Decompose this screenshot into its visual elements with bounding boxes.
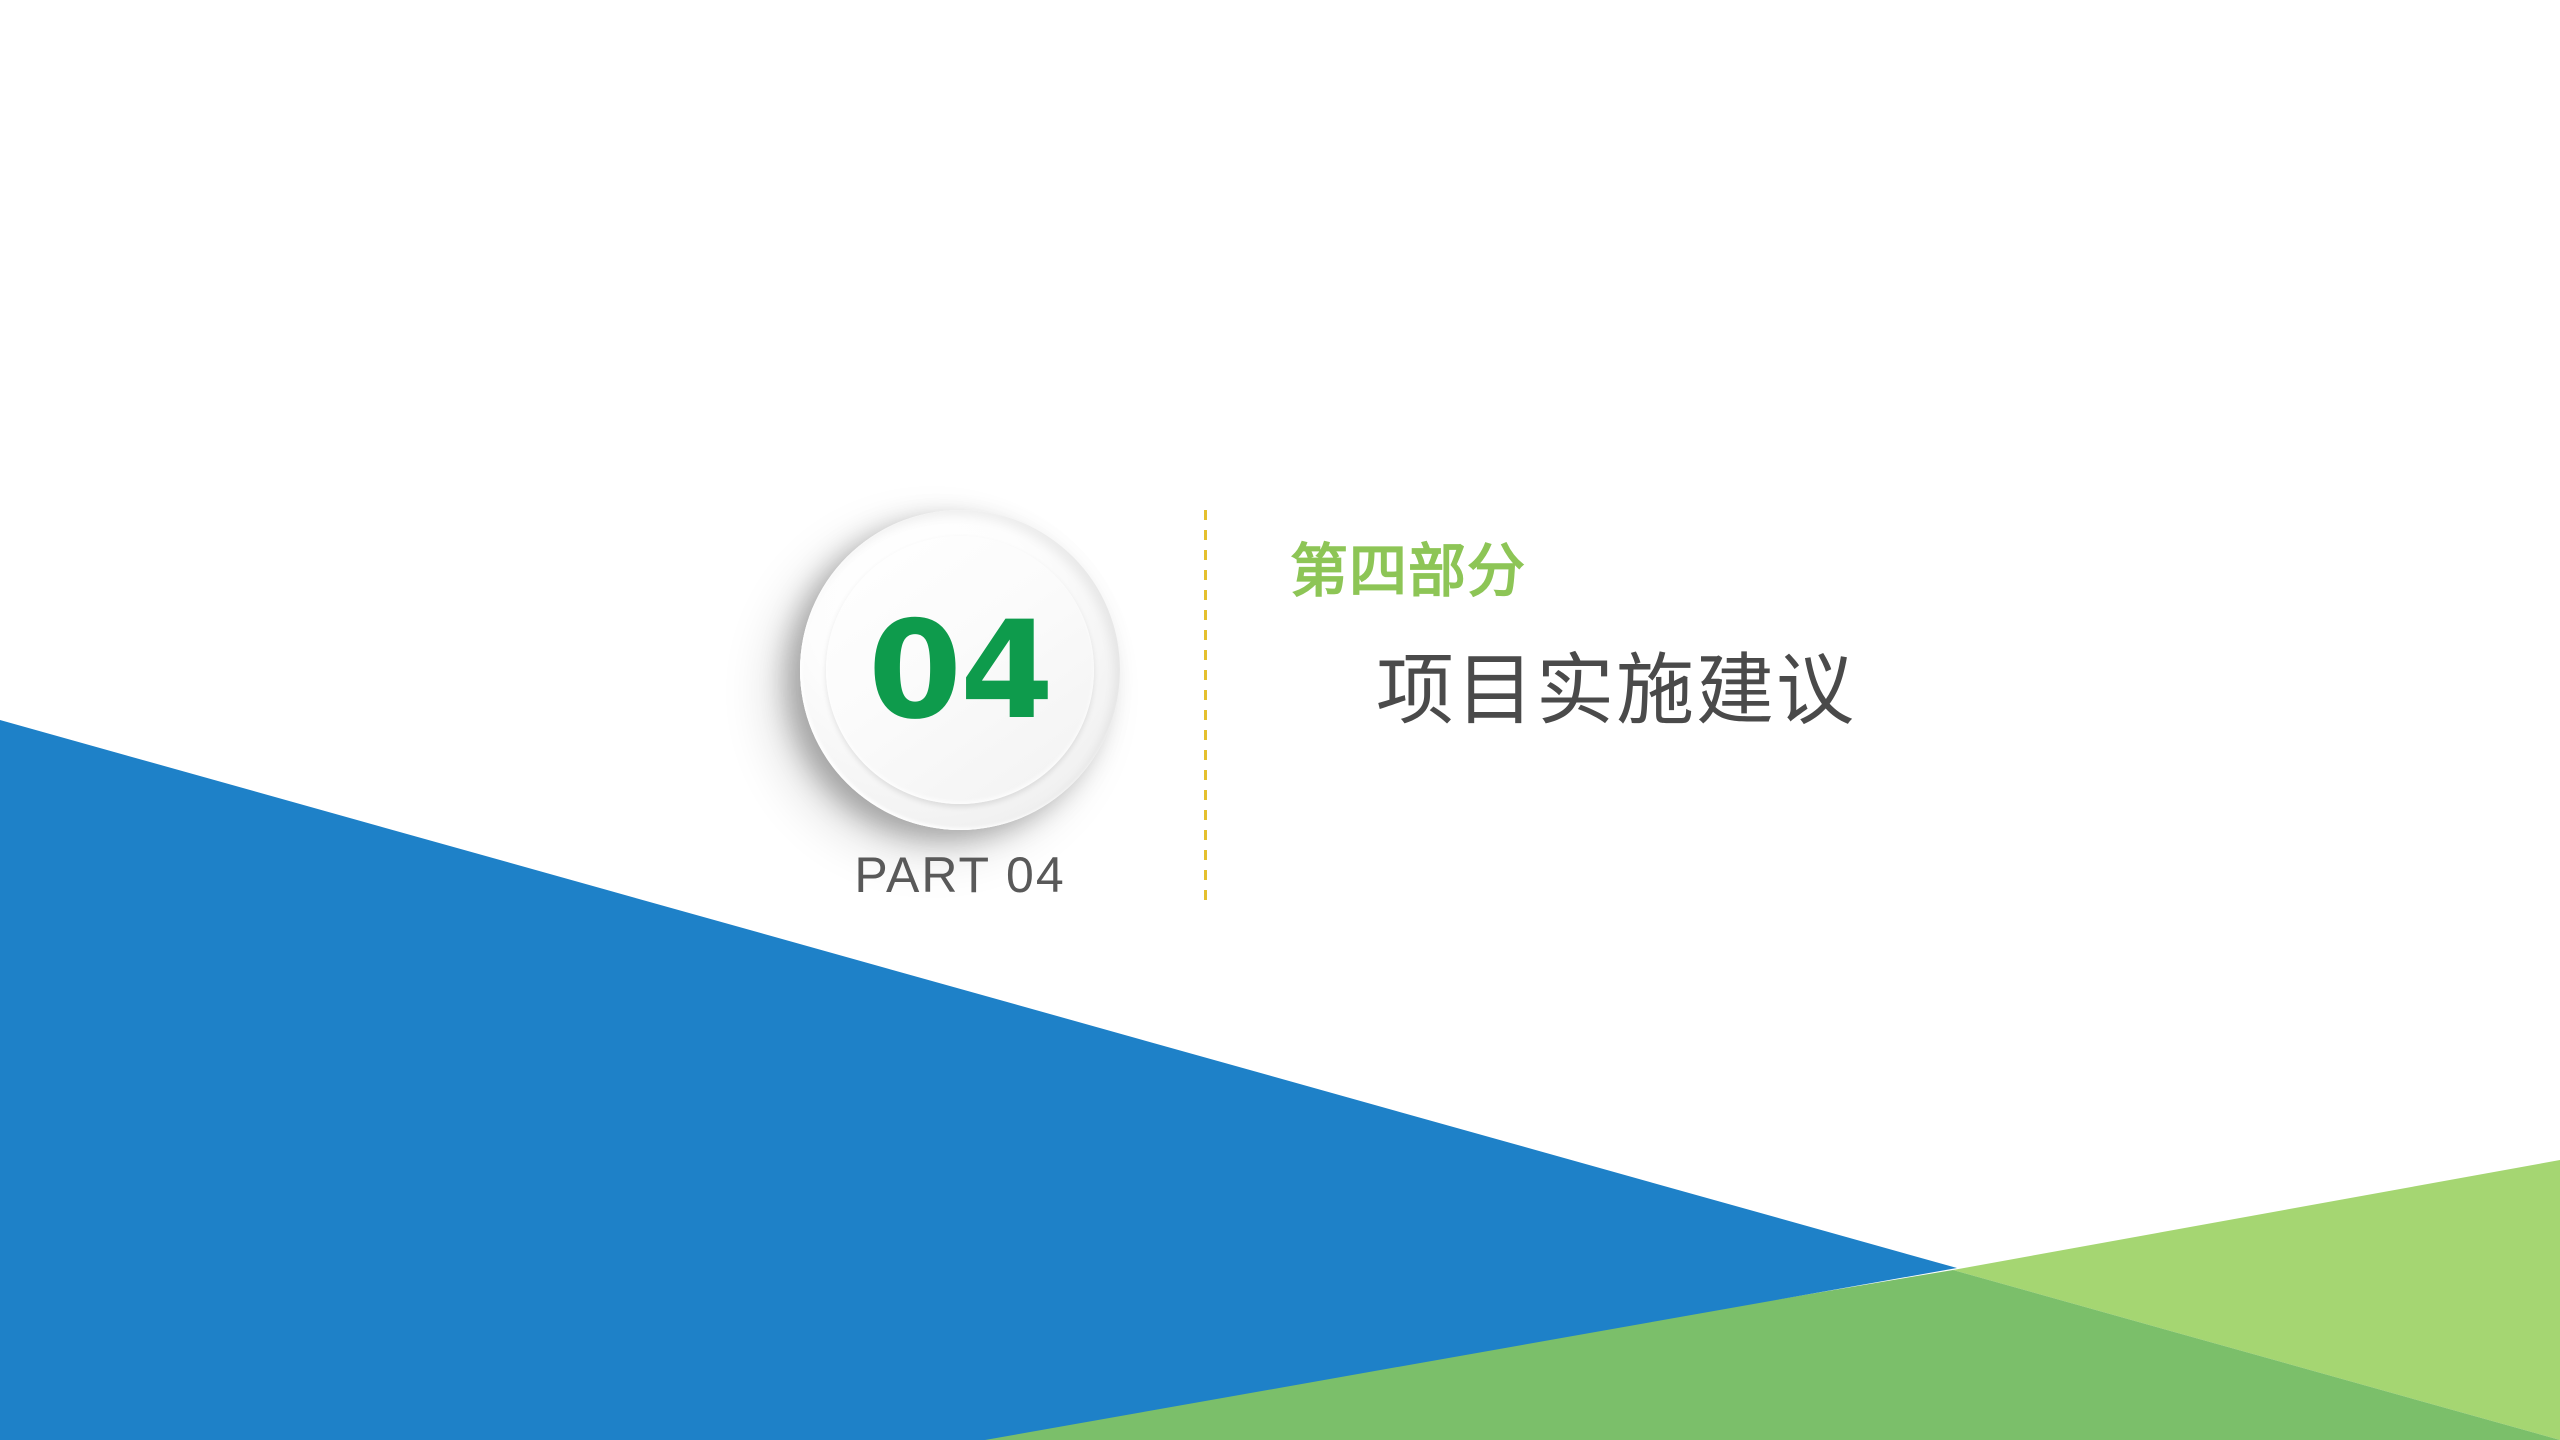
badge-circle-outer: 04	[800, 510, 1120, 830]
badge-circle-inner: 04	[826, 536, 1094, 804]
badge-caption-text: PART 04	[790, 848, 1130, 903]
section-kicker-text: 第四部分	[1290, 540, 2290, 604]
part-number-badge: 04 PART 04	[790, 500, 1130, 920]
section-slide: 04 PART 04 第四部分 项目实施建议	[0, 0, 2560, 1440]
section-title-text: 项目实施建议	[1376, 648, 2290, 735]
badge-number-text: 04	[868, 603, 1052, 738]
dashed-vertical-divider	[1204, 510, 1207, 906]
section-heading-block: 第四部分 项目实施建议	[1290, 540, 2290, 735]
